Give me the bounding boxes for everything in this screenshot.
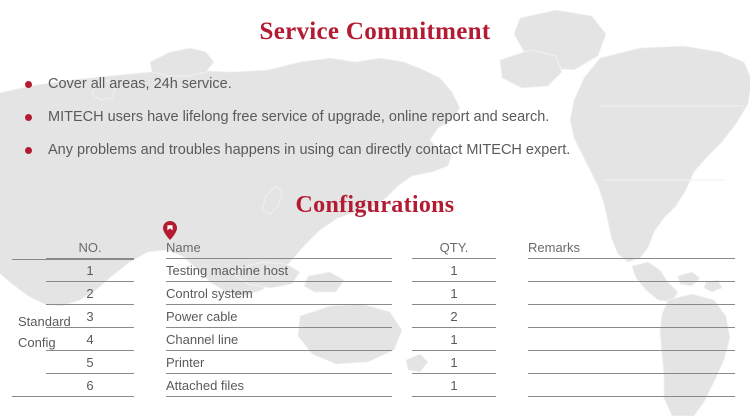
table-cell-qty: 1 — [412, 282, 496, 305]
table-cell-qty: 2 — [412, 305, 496, 328]
table-cell-no: 5 — [46, 351, 134, 374]
table-cell-no: 3 — [46, 305, 134, 328]
table-cell-qty: 1 — [412, 328, 496, 351]
table-cell-name: Printer — [166, 351, 392, 374]
table-cell-no: 1 — [46, 259, 134, 282]
list-item-text: MITECH users have lifelong free service … — [48, 109, 549, 125]
service-commitment-title: Service Commitment — [0, 17, 750, 47]
table-cell-name: Attached files — [166, 374, 392, 397]
table-column-name: Name Testing machine host Control system… — [166, 236, 392, 397]
table-cell-qty: 1 — [412, 351, 496, 374]
table-column-no: NO. 1 2 3 4 5 6 — [46, 236, 134, 397]
table-cell-no: 4 — [46, 328, 134, 351]
column-header-qty: QTY. — [412, 236, 496, 259]
table-column-qty: QTY. 1 1 2 1 1 1 — [412, 236, 496, 397]
list-item-text: Cover all areas, 24h service. — [48, 76, 232, 92]
column-header-name: Name — [166, 236, 392, 259]
map-pin-icon — [163, 221, 177, 240]
table-column-remarks: Remarks — [528, 236, 735, 397]
bullet-dot-icon — [25, 147, 32, 154]
table-cell-remarks — [528, 328, 735, 351]
page-root: Service Commitment Cover all areas, 24h … — [0, 0, 750, 416]
service-commitment-list: Cover all areas, 24h service. MITECH use… — [24, 68, 724, 167]
column-header-remarks: Remarks — [528, 236, 735, 259]
table-cell-no: 6 — [46, 374, 134, 397]
list-item: Cover all areas, 24h service. — [24, 68, 724, 101]
table-cell-no: 2 — [46, 282, 134, 305]
table-cell-remarks — [528, 351, 735, 374]
list-item: Any problems and troubles happens in usi… — [24, 134, 724, 167]
table-cell-qty: 1 — [412, 259, 496, 282]
table-cell-remarks — [528, 282, 735, 305]
table-cell-name: Testing machine host — [166, 259, 392, 282]
list-item: MITECH users have lifelong free service … — [24, 101, 724, 134]
table-cell-name: Control system — [166, 282, 392, 305]
table-cell-remarks — [528, 305, 735, 328]
table-cell-name: Power cable — [166, 305, 392, 328]
list-item-text: Any problems and troubles happens in usi… — [48, 142, 570, 158]
bullet-dot-icon — [25, 114, 32, 121]
table-cell-qty: 1 — [412, 374, 496, 397]
configurations-table: Standard Config NO. 1 2 3 4 5 6 Name Tes… — [0, 236, 750, 396]
table-cell-name: Channel line — [166, 328, 392, 351]
table-cell-remarks — [528, 374, 735, 397]
bullet-dot-icon — [25, 81, 32, 88]
configurations-title: Configurations — [0, 190, 750, 220]
table-cell-remarks — [528, 259, 735, 282]
column-header-no: NO. — [46, 236, 134, 259]
